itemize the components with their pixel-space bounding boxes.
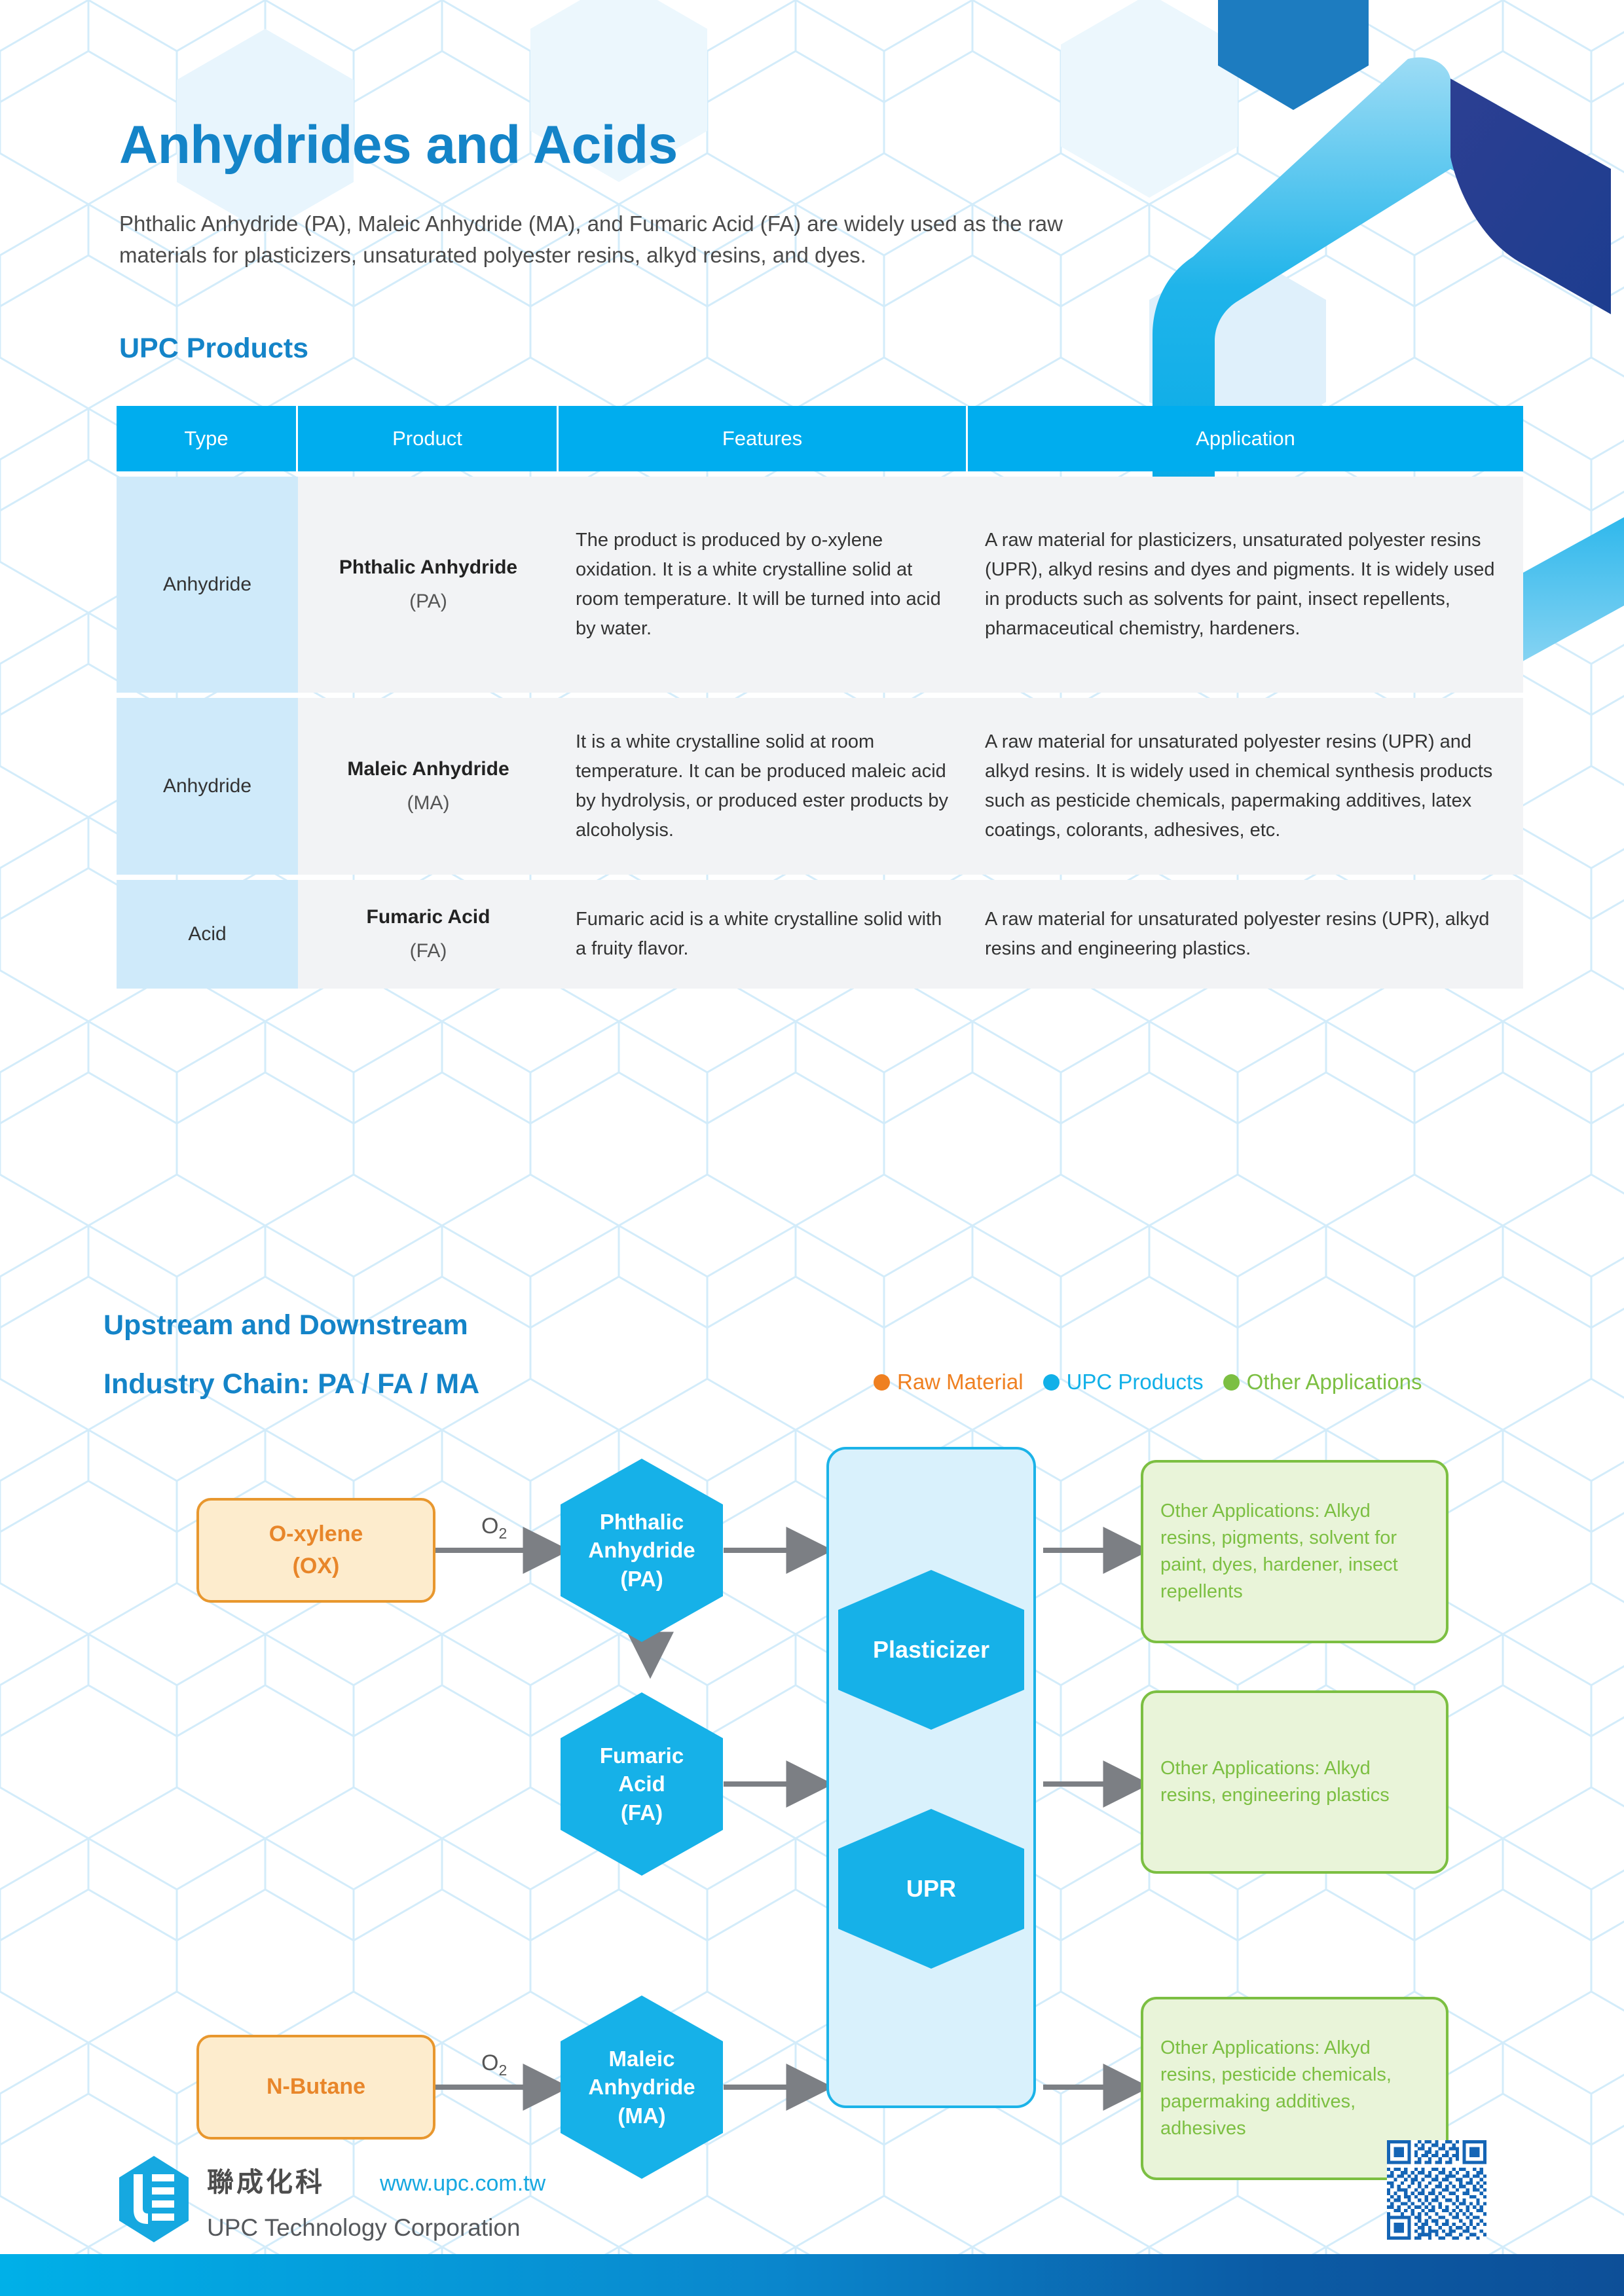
page-subtitle: Phthalic Anhydride (PA), Maleic Anhydrid…	[119, 208, 1121, 271]
cell-features: The product is produced by o-xylene oxid…	[559, 477, 968, 693]
node-label: Plasticizer	[873, 1636, 989, 1664]
node-product-phthalic-anhydride: Phthalic Anhydride (PA)	[561, 1459, 723, 1642]
cell-type: Anhydride	[117, 477, 298, 693]
node-label-line2: Anhydride	[588, 1536, 695, 1565]
table-header-row: Type Product Features Application	[117, 406, 1523, 471]
cell-product: Maleic Anhydride (MA)	[298, 698, 559, 875]
website-url[interactable]: www.upc.com.tw	[380, 2171, 545, 2196]
product-abbr: (MA)	[407, 792, 450, 814]
application-text: Other Applications: Alkyd resins, engine…	[1160, 1755, 1429, 1809]
product-name: Fumaric Acid	[367, 906, 490, 928]
table-row: Anhydride Maleic Anhydride (MA) It is a …	[117, 698, 1523, 875]
column-header-type: Type	[117, 406, 298, 471]
upc-products-heading: UPC Products	[119, 333, 308, 365]
cell-product: Fumaric Acid (FA)	[298, 880, 559, 989]
page-footer: 聯成化科 www.upc.com.tw UPC Technology Corpo…	[0, 2126, 1624, 2296]
legend-item-raw-material: Raw Material	[874, 1370, 1024, 1394]
qr-code-icon[interactable]	[1387, 2140, 1486, 2240]
diagram-legend: Raw Material UPC Products Other Applicat…	[874, 1370, 1422, 1394]
node-label-line1: Maleic	[609, 2045, 675, 2073]
reagent-o2-bottom: O2	[481, 2050, 507, 2079]
chain-heading-line2: Industry Chain: PA / FA / MA	[103, 1368, 479, 1400]
application-box-pa: Other Applications: Alkyd resins, pigmen…	[1141, 1460, 1449, 1643]
cell-type: Anhydride	[117, 698, 298, 875]
cell-product: Phthalic Anhydride (PA)	[298, 477, 559, 693]
reagent-o2-symbol: O	[481, 2050, 498, 2075]
product-abbr: (FA)	[410, 940, 447, 962]
product-name: Maleic Anhydride	[347, 758, 509, 780]
node-product-fumaric-acid: Fumaric Acid (FA)	[561, 1692, 723, 1876]
cell-features: It is a white crystalline solid at room …	[559, 698, 968, 875]
legend-item-other-applications: Other Applications	[1223, 1370, 1422, 1394]
node-label-line1: O-xylene	[269, 1518, 363, 1550]
node-label-line2: Anhydride	[588, 2073, 695, 2102]
downstream-products-container	[826, 1447, 1036, 2108]
node-raw-material-nbutane: N-Butane	[196, 2035, 435, 2140]
node-label-line3: (PA)	[620, 1565, 663, 1594]
node-label-line2: (OX)	[293, 1550, 340, 1582]
node-label: UPR	[906, 1875, 956, 1903]
products-table: Type Product Features Application Anhydr…	[117, 406, 1523, 989]
node-raw-material-oxylene: O-xylene (OX)	[196, 1498, 435, 1603]
product-name: Phthalic Anhydride	[339, 556, 517, 579]
column-header-features: Features	[559, 406, 968, 471]
reagent-o2-subscript: 2	[498, 2062, 507, 2079]
cell-application: A raw material for unsaturated polyester…	[968, 698, 1523, 875]
reagent-o2-top: O2	[481, 1514, 507, 1542]
cell-application: A raw material for plasticizers, unsatur…	[968, 477, 1523, 693]
table-row: Acid Fumaric Acid (FA) Fumaric acid is a…	[117, 880, 1523, 989]
product-abbr: (PA)	[409, 591, 447, 613]
brand-name-chinese: 聯成化科	[207, 2160, 325, 2199]
node-label-line1: Fumaric	[600, 1741, 684, 1770]
legend-label: Raw Material	[897, 1370, 1024, 1394]
chain-heading-line1: Upstream and Downstream	[103, 1309, 468, 1341]
cell-features: Fumaric acid is a white crystalline soli…	[559, 880, 968, 989]
legend-item-upc-products: UPC Products	[1043, 1370, 1204, 1394]
page-title: Anhydrides and Acids	[119, 115, 678, 176]
cell-application: A raw material for unsaturated polyester…	[968, 880, 1523, 989]
node-label-line1: N-Butane	[267, 2071, 365, 2103]
reagent-o2-subscript: 2	[498, 1525, 507, 1542]
reagent-o2-symbol: O	[481, 1514, 498, 1539]
industry-chain-diagram: O-xylene (OX) N-Butane O2 O2 Phthalic An…	[0, 1427, 1624, 2121]
legend-dot-icon	[1223, 1374, 1240, 1391]
legend-label: Other Applications	[1247, 1370, 1422, 1394]
application-text: Other Applications: Alkyd resins, pigmen…	[1160, 1498, 1429, 1606]
poster-page: Anhydrides and Acids Phthalic Anhydride …	[0, 0, 1624, 2296]
legend-label: UPC Products	[1067, 1370, 1204, 1394]
upc-logo-icon	[119, 2156, 189, 2242]
table-row: Anhydride Phthalic Anhydride (PA) The pr…	[117, 477, 1523, 693]
legend-dot-icon	[1043, 1374, 1060, 1391]
node-label-line2: Acid	[618, 1770, 665, 1798]
node-label-line3: (FA)	[621, 1798, 663, 1827]
cell-type: Acid	[117, 880, 298, 989]
footer-color-bar	[0, 2254, 1624, 2296]
column-header-application: Application	[968, 406, 1523, 471]
column-header-product: Product	[298, 406, 559, 471]
company-name: UPC Technology Corporation	[207, 2214, 521, 2242]
application-box-fa: Other Applications: Alkyd resins, engine…	[1141, 1690, 1449, 1874]
legend-dot-icon	[874, 1374, 890, 1391]
node-label-line1: Phthalic	[600, 1508, 684, 1537]
